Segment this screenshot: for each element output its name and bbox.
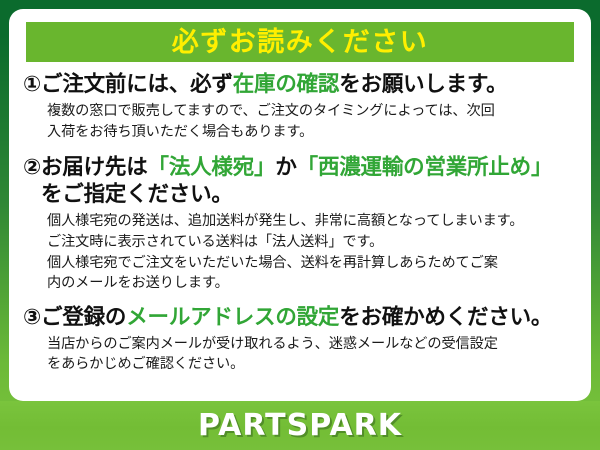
notice-item-3-heading-highlight: メールアドレスの設定 xyxy=(126,305,339,330)
brand-logo-text: PARTSPARK xyxy=(198,411,402,441)
header-banner: 必ずお読みください xyxy=(26,22,574,62)
notice-card: 必ずお読みください ①ご注文前には、必ず在庫の確認をお願いします。 複数の窓口で… xyxy=(9,9,591,401)
notice-list: ①ご注文前には、必ず在庫の確認をお願いします。 複数の窓口で販売してますので、ご… xyxy=(9,71,591,379)
page-title: 必ずお読みください xyxy=(172,29,429,56)
notice-item-2-detail: 個人様宅宛の発送は、追加送料が発生し、非常に高額となってしまいます。 ご注文時に… xyxy=(47,211,579,293)
notice-item-2-heading-part-1: お届け先は xyxy=(41,155,148,180)
notice-item-3-number: ③ xyxy=(23,305,41,330)
notice-item-2-detail-line-3: 個人様宅宛でご注文をいただいた場合、送料を再計算しあらためてご案 xyxy=(47,253,579,274)
notice-item-3-detail: 当店からのご案内メールが受け取れるよう、迷惑メールなどの受信設定 をあらかじめご… xyxy=(47,334,579,375)
notice-item-3-heading: ③ご登録のメールアドレスの設定をお確かめください。 xyxy=(23,304,579,331)
notice-item-2-heading-part-3: か xyxy=(275,155,296,180)
notice-item-3-heading-part-1: ご登録の xyxy=(41,305,126,330)
notice-item-2-number: ② xyxy=(23,155,41,180)
notice-item-2-heading-highlight-1: 「法人様宛」 xyxy=(148,155,276,180)
notice-item-1: ①ご注文前には、必ず在庫の確認をお願いします。 複数の窓口で販売してますので、ご… xyxy=(23,71,579,142)
notice-item-2-heading-highlight-2: 「西濃運輸の営業所止め」 xyxy=(297,155,553,180)
notice-item-1-heading-part-1: ご注文前には、必ず xyxy=(41,72,233,97)
notice-item-3-detail-line-2: をあらかじめご確認ください。 xyxy=(47,354,579,375)
notice-item-3-detail-line-1: 当店からのご案内メールが受け取れるよう、迷惑メールなどの受信設定 xyxy=(47,334,579,355)
notice-item-1-heading: ①ご注文前には、必ず在庫の確認をお願いします。 xyxy=(23,71,579,98)
notice-item-3: ③ご登録のメールアドレスの設定をお確かめください。 当店からのご案内メールが受け… xyxy=(23,304,579,375)
notice-frame: 必ずお読みください ①ご注文前には、必ず在庫の確認をお願いします。 複数の窓口で… xyxy=(0,0,600,450)
notice-item-2-heading: ②お届け先は「法人様宛」か「西濃運輸の営業所止め」 をご指定ください。 xyxy=(23,154,579,208)
notice-item-1-heading-highlight: 在庫の確認 xyxy=(233,72,340,97)
footer-brand-band: PARTSPARK xyxy=(0,401,600,450)
notice-item-2-heading-line-2: をご指定ください。 xyxy=(41,181,579,208)
notice-item-1-detail: 複数の窓口で販売してますので、ご注文のタイミングによっては、次回 入荷をお待ち頂… xyxy=(47,101,579,142)
notice-item-3-heading-part-3: をお確かめください。 xyxy=(339,305,552,330)
notice-item-2-detail-line-2: ご注文時に表示されている送料は「法人送料」です。 xyxy=(47,232,579,253)
notice-item-2-detail-line-1: 個人様宅宛の発送は、追加送料が発生し、非常に高額となってしまいます。 xyxy=(47,211,579,232)
notice-item-1-detail-line-2: 入荷をお待ち頂いただく場合もあります。 xyxy=(47,122,579,143)
notice-item-1-heading-part-3: をお願いします。 xyxy=(339,72,507,97)
notice-item-2-detail-line-4: 内のメールをお送りします。 xyxy=(47,273,579,294)
notice-item-1-detail-line-1: 複数の窓口で販売してますので、ご注文のタイミングによっては、次回 xyxy=(47,101,579,122)
notice-item-1-number: ① xyxy=(23,72,41,97)
notice-item-2: ②お届け先は「法人様宛」か「西濃運輸の営業所止め」 をご指定ください。 個人様宅… xyxy=(23,154,579,294)
